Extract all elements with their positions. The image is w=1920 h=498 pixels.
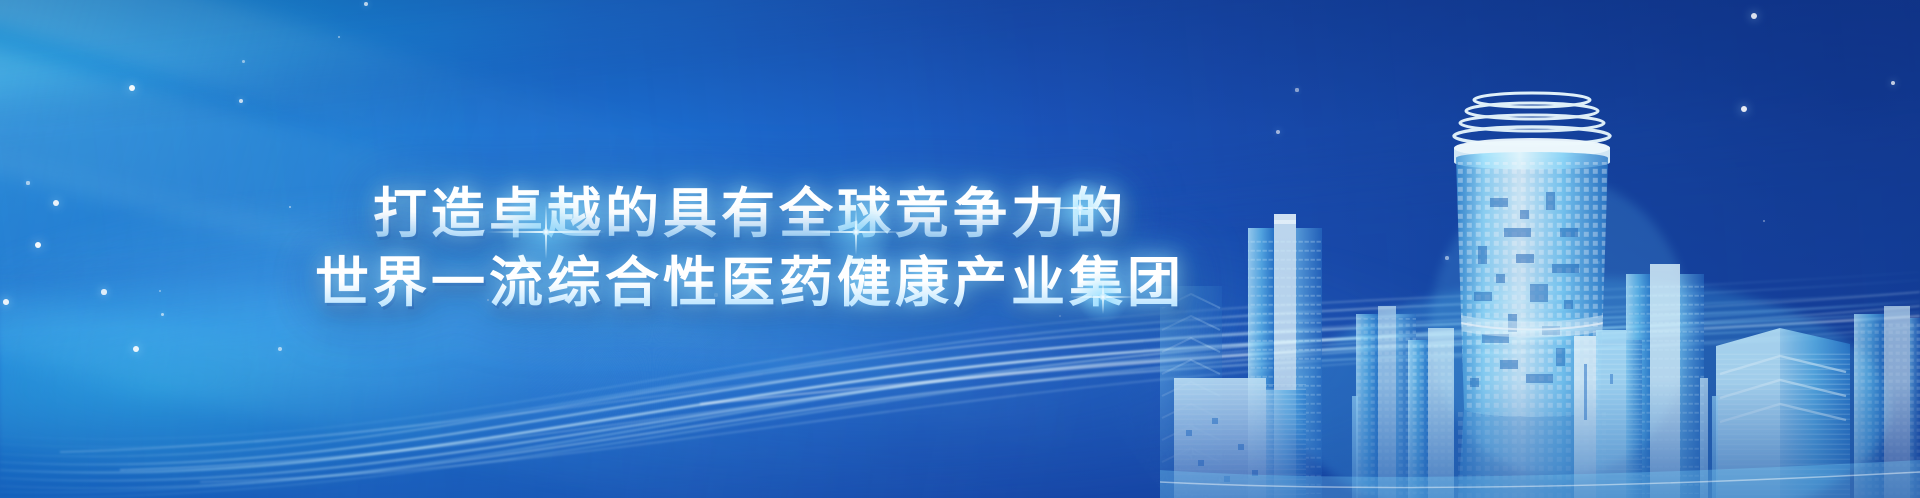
headline-line-1: 打造卓越的具有全球竞争力的 — [373, 183, 1127, 246]
headline-block: 打造卓越的具有全球竞争力的 世界一流综合性医药健康产业集团 — [0, 0, 1500, 498]
headline-line-2: 世界一流综合性医药健康产业集团 — [315, 252, 1185, 315]
hero-banner: 打造卓越的具有全球竞争力的 世界一流综合性医药健康产业集团 — [0, 0, 1920, 498]
star-dot — [1751, 13, 1757, 19]
